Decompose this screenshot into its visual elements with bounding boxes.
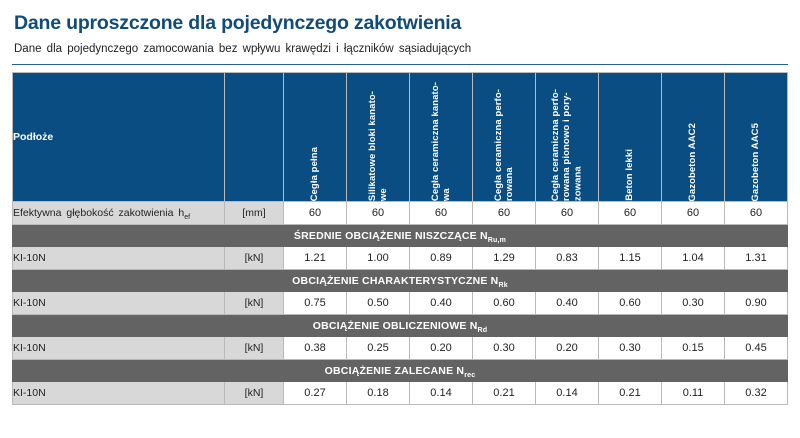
column-header-7: Gazobeton AAC5	[725, 73, 788, 202]
anchor-data-table: Podłoże Cegła pełna Silikatowe bloki kan…	[12, 72, 788, 405]
page-subtitle: Dane dla pojedynczego zamocowania bez wp…	[14, 43, 790, 57]
row-label-subscript: ef	[184, 214, 190, 221]
page: Dane uproszczone dla pojedynczego zakotw…	[0, 12, 800, 438]
table-row: KI-10N[kN]0.270.180.140.210.140.210.110.…	[13, 382, 788, 405]
table-cell: 0.89	[410, 247, 473, 270]
table-head: Podłoże Cegła pełna Silikatowe bloki kan…	[13, 73, 788, 202]
section-band-label: OBCIĄŻENIE ZALECANE Nrec	[13, 360, 788, 382]
table-cell: 0.32	[725, 382, 788, 405]
column-header-5: Beton lekki	[599, 73, 662, 202]
table-cell: 0.27	[284, 382, 347, 405]
row-label: Efektywna głębokość zakotwienia hef	[13, 202, 225, 225]
column-header-label-5: Beton lekki	[624, 147, 635, 201]
column-header-label-3: Cegła ceramiczna perfo- rowana	[493, 87, 515, 201]
table-cell: 0.60	[599, 292, 662, 315]
table-cell: 0.21	[473, 382, 536, 405]
row-unit: [kN]	[225, 382, 284, 405]
table-cell: 0.38	[284, 337, 347, 360]
table-row: KI-10N[kN]0.750.500.400.600.400.600.300.…	[13, 292, 788, 315]
table-cell: 60	[599, 202, 662, 225]
table-cell: 0.30	[473, 337, 536, 360]
table-cell: 1.15	[599, 247, 662, 270]
table-cell: 0.14	[536, 382, 599, 405]
table-cell: 0.40	[410, 292, 473, 315]
table-cell: 0.50	[347, 292, 410, 315]
column-header-3: Cegła ceramiczna perfo- rowana	[473, 73, 536, 202]
table-cell: 1.04	[662, 247, 725, 270]
column-header-0: Cegła pełna	[284, 73, 347, 202]
column-header-unit	[225, 73, 284, 202]
row-label: KI-10N	[13, 382, 225, 405]
table-cell: 1.31	[725, 247, 788, 270]
column-header-4: Cegła ceramiczna perfo- rowana pionowo i…	[536, 73, 599, 202]
column-header-6: Gazobeton AAC2	[662, 73, 725, 202]
section-band-subscript: rec	[464, 372, 475, 379]
column-header-label-7: Gazobeton AAC5	[750, 121, 761, 202]
table-cell: 60	[725, 202, 788, 225]
table-cell: 60	[662, 202, 725, 225]
section-band-label: OBCIĄŻENIE CHARAKTERYSTYCZNE NRk	[13, 270, 788, 292]
table-cell: 60	[536, 202, 599, 225]
section-band-row: OBCIĄŻENIE CHARAKTERYSTYCZNE NRk	[13, 270, 788, 292]
row-unit: [mm]	[225, 202, 284, 225]
table-body: Efektywna głębokość zakotwienia hef[mm]6…	[13, 202, 788, 405]
table-cell: 0.25	[347, 337, 410, 360]
title-divider	[12, 64, 788, 65]
table-row: KI-10N[kN]1.211.000.891.290.831.151.041.…	[13, 247, 788, 270]
table-cell: 1.21	[284, 247, 347, 270]
column-header-label-6: Gazobeton AAC2	[687, 121, 698, 202]
row-label: KI-10N	[13, 292, 225, 315]
section-band-subscript: Rk	[498, 282, 507, 289]
table-cell: 0.60	[473, 292, 536, 315]
table-cell: 0.18	[347, 382, 410, 405]
table-cell: 0.15	[662, 337, 725, 360]
table-cell: 0.14	[410, 382, 473, 405]
table-cell: 0.40	[536, 292, 599, 315]
section-band-subscript: Rd	[478, 327, 488, 334]
column-header-label-4: Cegła ceramiczna perfo- rowana pionowo i…	[550, 87, 584, 201]
page-title: Dane uproszczone dla pojedynczego zakotw…	[14, 12, 790, 34]
table-cell: 60	[347, 202, 410, 225]
table-cell: 0.90	[725, 292, 788, 315]
column-header-1: Silikatowe bloki kanato- we	[347, 73, 410, 202]
section-band-label: ŚREDNIE OBCIĄŻENIE NISZCZĄCE NRu,m	[13, 225, 788, 247]
table-cell: 60	[284, 202, 347, 225]
table-header-row: Podłoże Cegła pełna Silikatowe bloki kan…	[13, 73, 788, 202]
section-band-row: OBCIĄŻENIE ZALECANE Nrec	[13, 360, 788, 382]
column-header-label-1: Silikatowe bloki kanato- we	[367, 89, 389, 201]
table-cell: 0.75	[284, 292, 347, 315]
section-band-label: OBCIĄŻENIE OBLICZENIOWE NRd	[13, 315, 788, 337]
table-cell: 1.29	[473, 247, 536, 270]
table-cell: 0.21	[599, 382, 662, 405]
table-cell: 0.20	[410, 337, 473, 360]
table-cell: 60	[473, 202, 536, 225]
table-cell: 0.20	[536, 337, 599, 360]
column-header-2: Cegła ceramiczna kanato- wa	[410, 73, 473, 202]
row-unit: [kN]	[225, 292, 284, 315]
row-label: KI-10N	[13, 247, 225, 270]
table-cell: 0.30	[599, 337, 662, 360]
table-row: KI-10N[kN]0.380.250.200.300.200.300.150.…	[13, 337, 788, 360]
table-cell: 0.11	[662, 382, 725, 405]
row-unit: [kN]	[225, 247, 284, 270]
row-label: KI-10N	[13, 337, 225, 360]
table-cell: 0.30	[662, 292, 725, 315]
section-band-row: ŚREDNIE OBCIĄŻENIE NISZCZĄCE NRu,m	[13, 225, 788, 247]
column-header-label-0: Cegła pełna	[309, 145, 320, 201]
table-cell: 1.00	[347, 247, 410, 270]
section-band-row: OBCIĄŻENIE OBLICZENIOWE NRd	[13, 315, 788, 337]
table-cell: 0.45	[725, 337, 788, 360]
column-header-label-2: Cegła ceramiczna kanato- wa	[430, 80, 452, 201]
row-unit: [kN]	[225, 337, 284, 360]
table-cell: 60	[410, 202, 473, 225]
table-cell: 0.83	[536, 247, 599, 270]
table-row: Efektywna głębokość zakotwienia hef[mm]6…	[13, 202, 788, 225]
section-band-subscript: Ru,m	[488, 237, 506, 244]
column-header-substrate: Podłoże	[13, 73, 225, 202]
